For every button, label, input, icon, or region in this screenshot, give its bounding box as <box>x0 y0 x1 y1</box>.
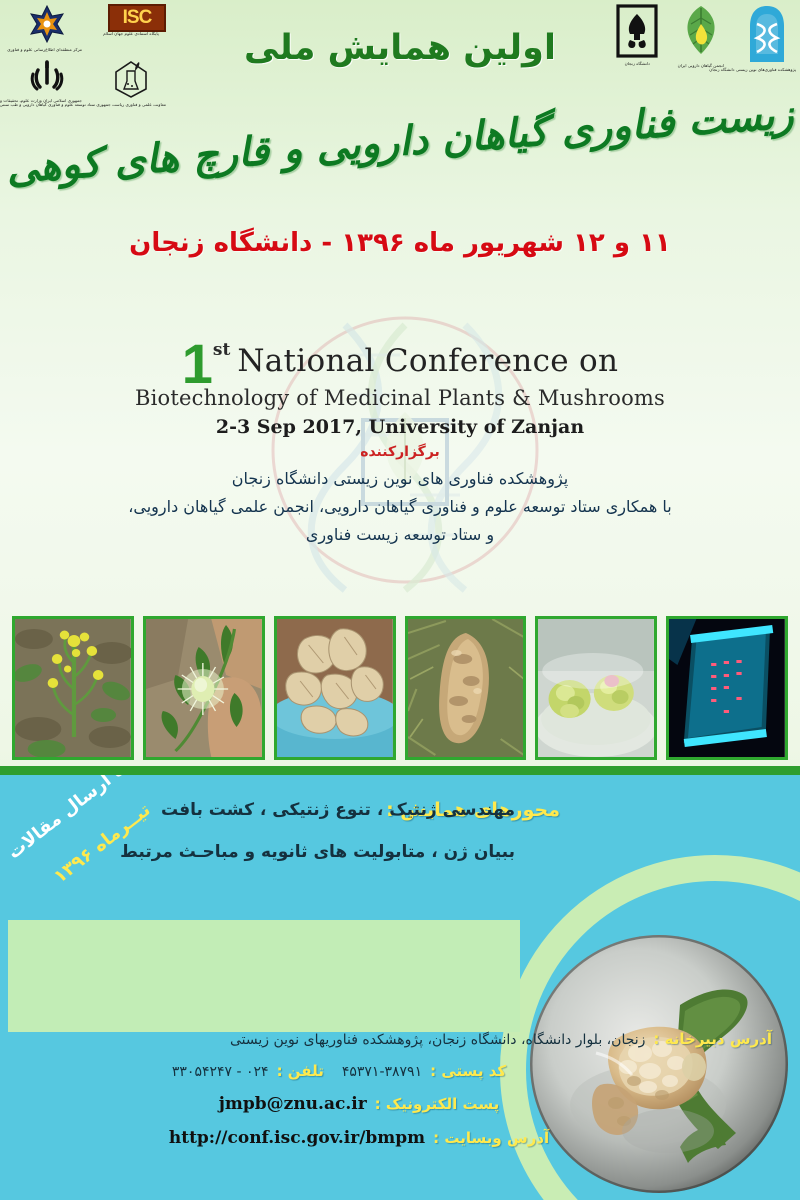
organizers-block: برگزارکننده پژوهشکده فناوری های نوین زیس… <box>0 444 800 544</box>
organizer-line-1: پژوهشکده فناوری های نوین زیستی دانشگاه ز… <box>0 469 800 488</box>
research-institute-caption: معاونت علمی و فناوری ریاست جمهوری ستاد ت… <box>96 103 166 108</box>
phone-value: ۰۲۴ - ۳۳۰۵۴۲۴۷ <box>172 1064 269 1080</box>
ministry-of-science-caption: جمهوری اسلامی ایران وزارت علوم، تحقیقات … <box>12 99 82 104</box>
contact-row-website[interactable]: آدرس وبسایت : http://conf.isc.gov.ir/bmp… <box>0 1128 800 1148</box>
website-value[interactable]: http://conf.isc.gov.ir/bmpm <box>169 1128 425 1148</box>
postal-code-label: کد پستی : <box>430 1062 506 1080</box>
pale-green-panel <box>8 920 520 1032</box>
organizer-line-3: و ستاد توسعه زیست فناوری <box>0 525 800 544</box>
english-title-block: 1stNational Conference on Biotechnology … <box>0 336 800 438</box>
email-label: پست الکترونیک : <box>375 1095 500 1113</box>
address-label: آدرس دبیرخانه : <box>653 1030 772 1048</box>
isc-logo-mark: ISC <box>123 7 152 29</box>
green-divider-bar <box>0 766 800 775</box>
mushroom-field-photo <box>405 616 527 760</box>
english-date-venue: 2-3 Sep 2017, University of Zanjan <box>0 416 800 438</box>
website-label: آدرس وبسایت : <box>433 1129 549 1147</box>
contact-block: آدرس دبیرخانه : زنجان، بلوار دانشگاه، دا… <box>0 1030 800 1162</box>
topic-line-1: مهندسی ژنتیک ، تنوع ژنتیکی ، کشت بافت <box>161 800 515 820</box>
harvested-mushrooms-photo <box>274 616 396 760</box>
contact-row-postal-phone: کد پستی : ۴۵۳۷۱-۳۸۷۹۱ تلفن : ۰۲۴ - ۳۳۰۵۴… <box>0 1062 800 1080</box>
conference-title-line1: اولین همایش ملی <box>0 28 800 68</box>
gel-electrophoresis-photo <box>666 616 788 760</box>
contact-row-email[interactable]: پست الکترونیک : jmpb@znu.ac.ir <box>0 1094 800 1114</box>
biotech-institute-caption: پژوهشکده فناوری‌های نوین زیستی دانشگاه ز… <box>738 68 796 73</box>
conference-poster: ISC پایگاه استنادی علوم جهان اسلام مرکز … <box>0 0 800 1200</box>
postal-code-value: ۴۵۳۷۱-۳۸۷۹۱ <box>342 1064 422 1080</box>
caper-flower-photo <box>143 616 265 760</box>
tissue-culture-photo <box>535 616 657 760</box>
ordinal-suffix: st <box>213 340 230 360</box>
conference-date-persian: ۱۱ و ۱۲ شهریور ماه ۱۳۹۶ - دانشگاه زنجان <box>0 228 800 258</box>
photo-strip <box>12 616 788 760</box>
left-logo-group: ISC پایگاه استنادی علوم جهان اسلام مرکز … <box>6 4 166 136</box>
phone-label: تلفن : <box>277 1062 324 1080</box>
email-value[interactable]: jmpb@znu.ac.ir <box>219 1094 367 1114</box>
topic-line-2: ببیان ژن ، متابولیت های ثانویه و مباحـث … <box>120 842 515 862</box>
ordinal-number: 1 <box>182 332 213 395</box>
organizer-line-2: با همکاری ستاد توسعه علوم و فناوری گیاها… <box>0 497 800 516</box>
organizers-heading: برگزارکننده <box>0 444 800 460</box>
address-value: زنجان، بلوار دانشگاه، دانشگاه زنجان، پژو… <box>230 1032 645 1048</box>
english-title-line1: National Conference on <box>237 343 618 379</box>
contact-row-address: آدرس دبیرخانه : زنجان، بلوار دانشگاه، دا… <box>0 1030 800 1048</box>
medicinal-herb-photo <box>12 616 134 760</box>
